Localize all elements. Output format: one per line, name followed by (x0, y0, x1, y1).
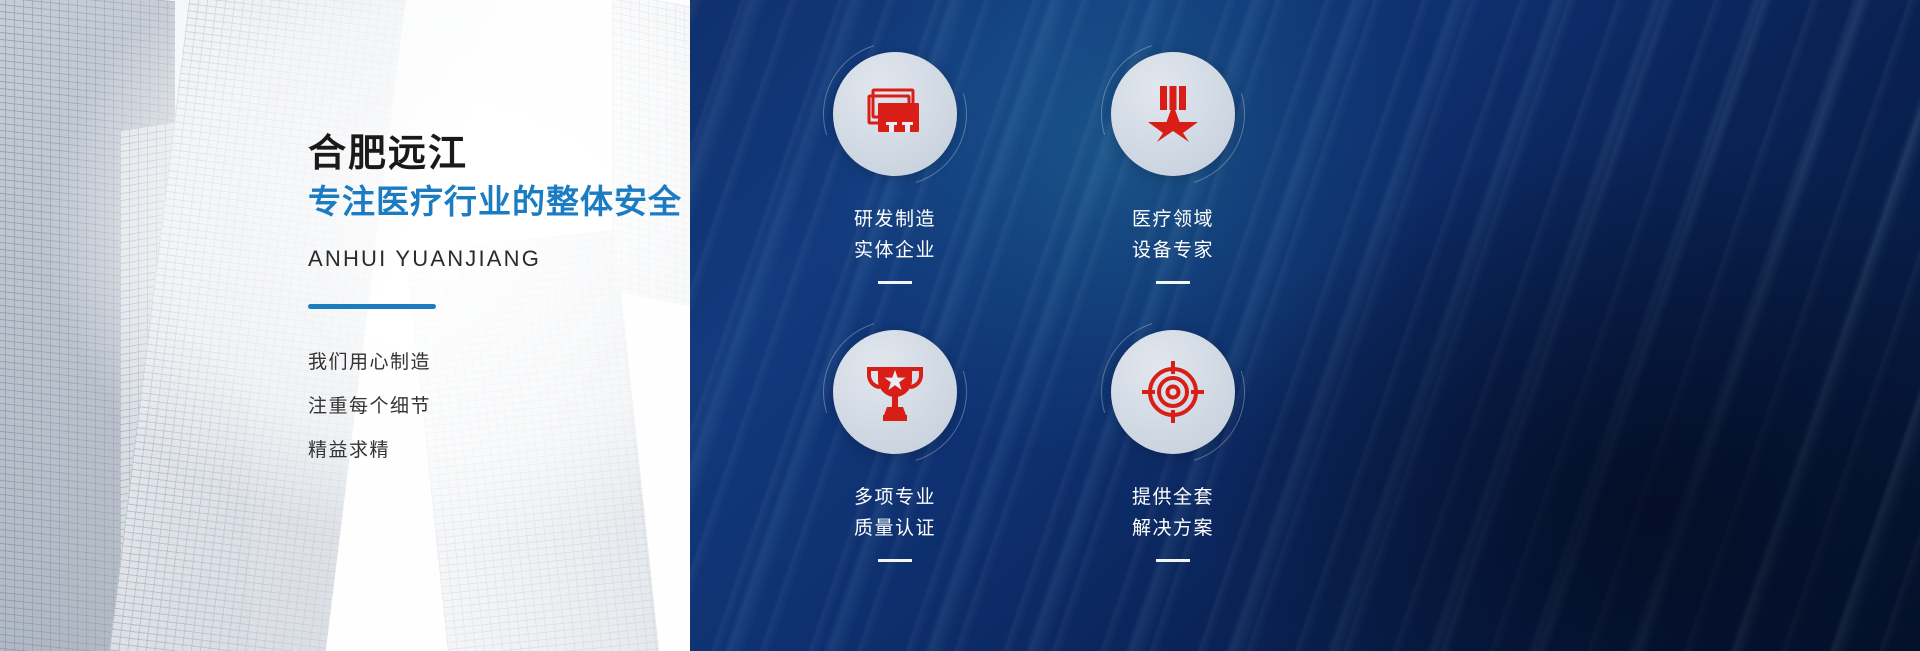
badge-wrapper (833, 52, 957, 176)
feature-label-line1: 多项专业 (854, 482, 936, 513)
slogan-line: 我们用心制造 (308, 341, 690, 385)
medal-star-icon (1148, 84, 1198, 144)
badge-wrapper (833, 330, 957, 454)
badge-circle (1111, 330, 1235, 454)
feature-item-medical-expert[interactable]: 医疗领域 设备专家 (1058, 52, 1288, 322)
feature-grid: 研发制造 实体企业 (780, 52, 1340, 612)
feature-item-rd-manufacturing[interactable]: 研发制造 实体企业 (780, 52, 1010, 322)
company-name-pinyin: ANHUI YUANJIANG (308, 246, 690, 272)
feature-item-quality-certification[interactable]: 多项专业 质量认证 (780, 330, 1010, 600)
badge-circle (833, 52, 957, 176)
accent-divider (308, 304, 436, 309)
feature-label-line1: 提供全套 (1132, 482, 1214, 513)
badge-circle (1111, 52, 1235, 176)
feature-label-line1: 医疗领域 (1132, 204, 1214, 235)
slogan-line: 精益求精 (308, 429, 690, 473)
label-underline (878, 281, 912, 284)
company-tagline: 专注医疗行业的整体安全 (308, 181, 690, 224)
factory-stack-icon (864, 87, 926, 141)
target-crosshair-icon (1142, 361, 1204, 423)
feature-label: 研发制造 实体企业 (854, 204, 936, 266)
promo-banner: 合肥远江 专注医疗行业的整体安全 ANHUI YUANJIANG 我们用心制造 … (0, 0, 1920, 651)
hero-text-block: 合肥远江 专注医疗行业的整体安全 ANHUI YUANJIANG 我们用心制造 … (308, 131, 690, 473)
feature-item-full-solution[interactable]: 提供全套 解决方案 (1058, 330, 1288, 600)
badge-wrapper (1111, 330, 1235, 454)
slogan-line: 注重每个细节 (308, 385, 690, 429)
trophy-star-icon (865, 363, 925, 421)
feature-label-line2: 质量认证 (854, 513, 936, 544)
label-underline (878, 559, 912, 562)
label-underline (1156, 281, 1190, 284)
company-name: 合肥远江 (308, 131, 690, 177)
feature-label: 医疗领域 设备专家 (1132, 204, 1214, 266)
feature-label-line2: 实体企业 (854, 235, 936, 266)
feature-label-line1: 研发制造 (854, 204, 936, 235)
label-underline (1156, 559, 1190, 562)
feature-label: 多项专业 质量认证 (854, 482, 936, 544)
left-hero-panel: 合肥远江 专注医疗行业的整体安全 ANHUI YUANJIANG 我们用心制造 … (0, 0, 690, 651)
right-feature-panel: 研发制造 实体企业 (690, 0, 1920, 651)
badge-wrapper (1111, 52, 1235, 176)
feature-label-line2: 解决方案 (1132, 513, 1214, 544)
feature-label: 提供全套 解决方案 (1132, 482, 1214, 544)
feature-label-line2: 设备专家 (1132, 235, 1214, 266)
badge-circle (833, 330, 957, 454)
slogan-list: 我们用心制造 注重每个细节 精益求精 (308, 341, 690, 473)
